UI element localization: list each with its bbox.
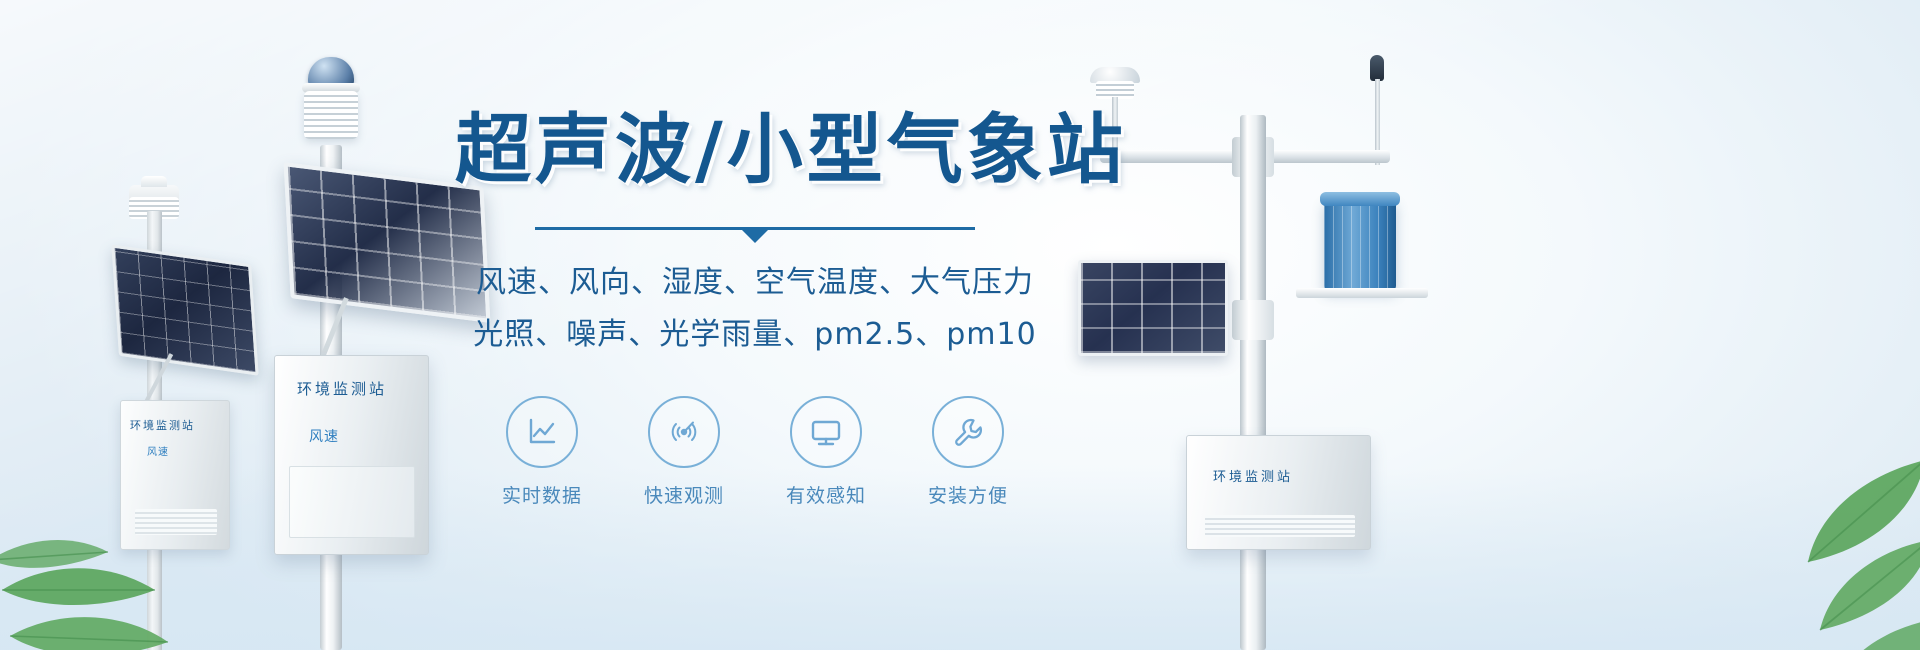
cabinet-label: 环境监测站 [1213, 466, 1293, 485]
title-divider [535, 227, 975, 241]
cabinet-label: 环境监测站 [297, 378, 387, 399]
feature-item-easy-install[interactable]: 安装方便 [920, 396, 1016, 508]
mast-collar-lower [1232, 300, 1274, 340]
cabinet-vent [135, 509, 217, 535]
subtitle-line-2: 光照、噪声、光学雨量、pm2.5、pm10 [455, 311, 1055, 360]
solar-panel [111, 244, 258, 375]
cabinet: 环境监测站 风速 [274, 355, 429, 555]
feature-icon-circle [506, 396, 578, 468]
cabinet-vent [1205, 515, 1355, 537]
banner-text-block: 超声波/小型气象站 风速、风向、湿度、空气温度、大气压力 光照、噪声、光学雨量、… [455, 104, 1055, 508]
wrench-icon [949, 413, 987, 451]
subtitle-line-1: 风速、风向、湿度、空气温度、大气压力 [455, 259, 1055, 308]
feature-icon-circle [790, 396, 862, 468]
product-banner: 环境监测站 风速 环境监测站 风速 环境监测站 [0, 0, 1920, 650]
feature-item-realtime-data[interactable]: 实时数据 [494, 396, 590, 508]
feature-label: 有效感知 [778, 481, 874, 508]
feature-item-fast-observation[interactable]: 快速观测 [636, 396, 732, 508]
feature-label: 安装方便 [920, 481, 1016, 508]
brand-logo-label: 风速 [147, 443, 169, 458]
instrument-shelf [1296, 288, 1428, 298]
cabinet-door [289, 466, 415, 538]
weather-station-small-left: 环境监测站 风速 [105, 175, 270, 650]
feature-icon-circle [648, 396, 720, 468]
feature-label: 快速观测 [636, 481, 732, 508]
mast-pole [1240, 115, 1266, 650]
page-title: 超声波/小型气象站 [455, 104, 1055, 197]
rain-gauge-icon [1324, 200, 1396, 290]
ultrasonic-anemometer-icon [1088, 67, 1142, 109]
feature-label: 实时数据 [494, 481, 590, 508]
feature-item-effective-sensing[interactable]: 有效感知 [778, 396, 874, 508]
radiation-shield-icon [304, 91, 358, 139]
radar-signal-icon [665, 413, 703, 451]
wind-vane-icon [1360, 55, 1394, 105]
solar-panel [1078, 260, 1228, 356]
line-chart-icon [524, 414, 560, 450]
feature-list: 实时数据 快速观测 [455, 396, 1055, 508]
brand-logo-label: 风速 [309, 426, 339, 446]
monitor-screen-icon [807, 413, 845, 451]
leaf-decoration-right [1630, 390, 1920, 650]
divider-triangle-icon [742, 230, 768, 243]
cabinet-label: 环境监测站 [130, 417, 195, 433]
feature-icon-circle [932, 396, 1004, 468]
cabinet: 环境监测站 风速 [120, 400, 230, 550]
cabinet: 环境监测站 [1186, 435, 1371, 550]
